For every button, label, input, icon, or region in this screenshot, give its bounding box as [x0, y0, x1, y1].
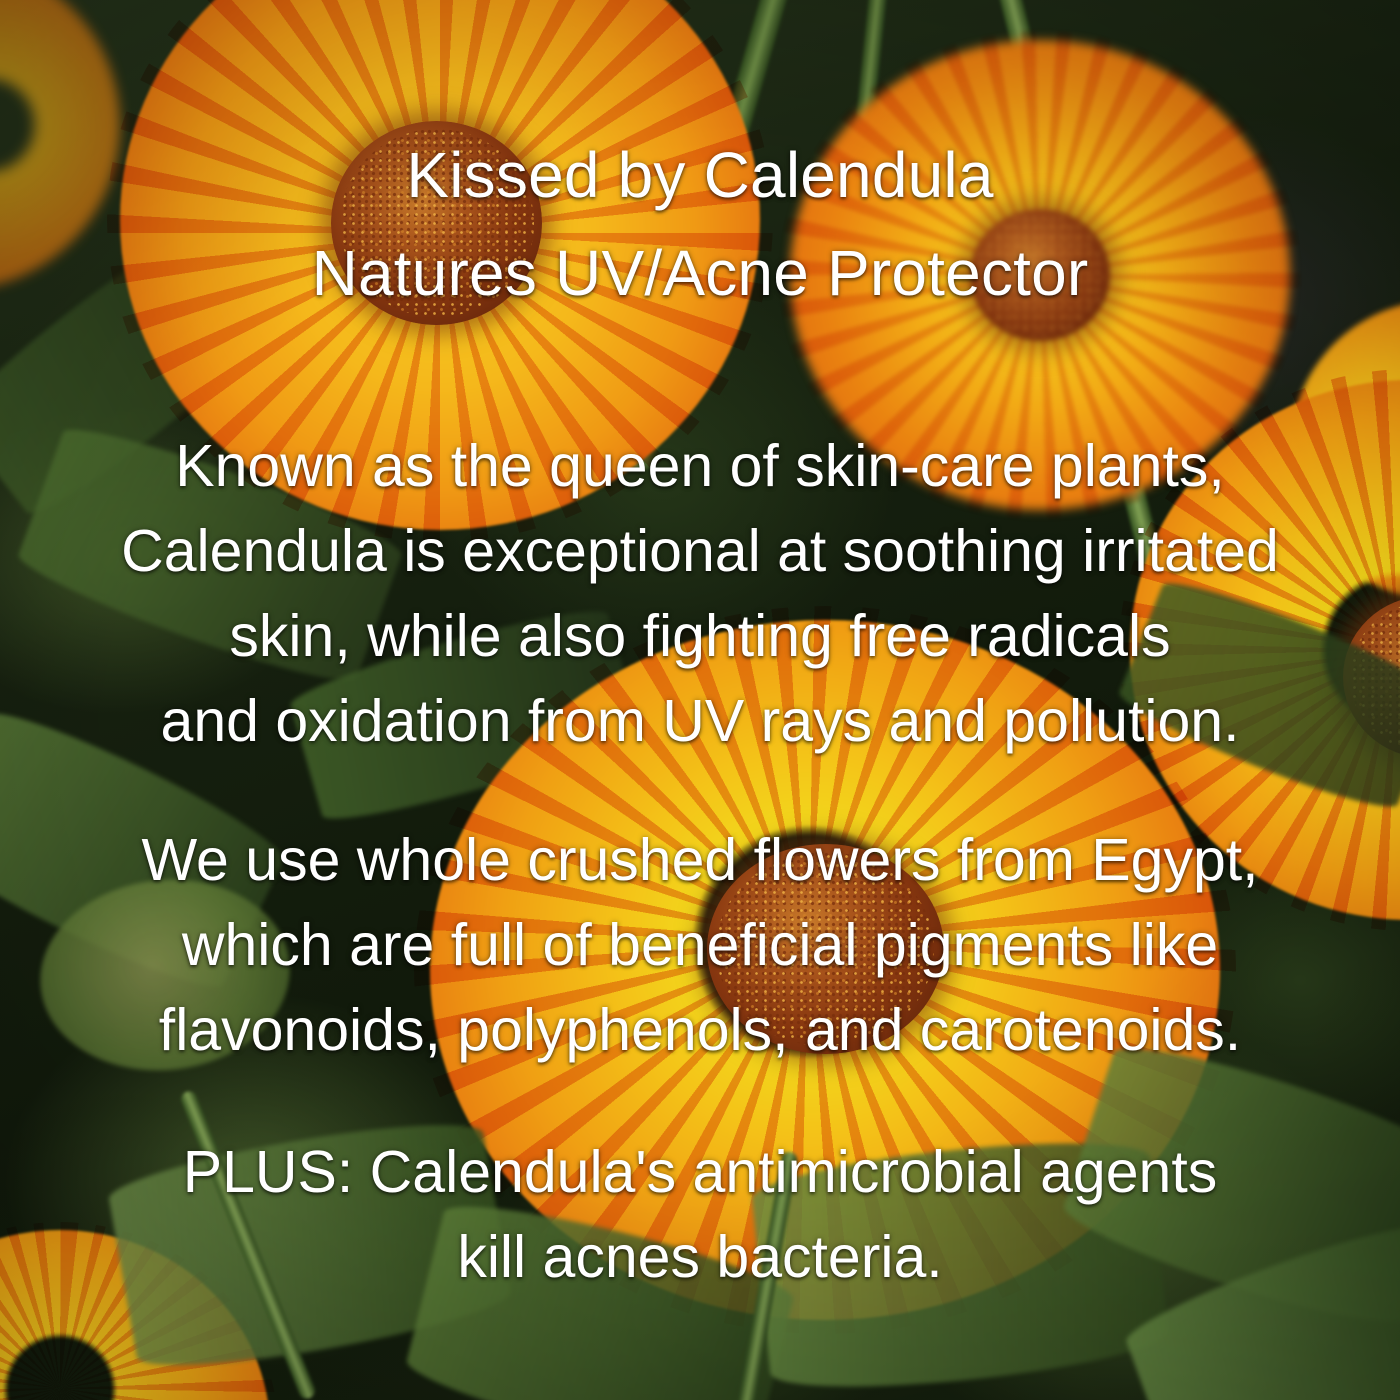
text-overlay: Kissed by Calendula Natures UV/Acne Prot… — [0, 0, 1400, 1400]
benefits-line-1: Known as the queen of skin-care plants, — [0, 424, 1400, 509]
title-line-2: Natures UV/Acne Protector — [0, 224, 1400, 322]
sourcing-line-3: flavonoids, polyphenols, and carotenoids… — [0, 988, 1400, 1073]
plus-line-1: PLUS: Calendula's antimicrobial agents — [0, 1130, 1400, 1215]
poster-canvas: Kissed by Calendula Natures UV/Acne Prot… — [0, 0, 1400, 1400]
title-line-1: Kissed by Calendula — [0, 126, 1400, 224]
benefits-line-4: and oxidation from UV rays and pollution… — [0, 679, 1400, 764]
paragraph-sourcing: We use whole crushed flowers from Egypt,… — [0, 818, 1400, 1073]
sourcing-line-2: which are full of beneficial pigments li… — [0, 903, 1400, 988]
benefits-line-2: Calendula is exceptional at soothing irr… — [0, 509, 1400, 594]
benefits-line-3: skin, while also fighting free radicals — [0, 594, 1400, 679]
sourcing-line-1: We use whole crushed flowers from Egypt, — [0, 818, 1400, 903]
page-title: Kissed by Calendula Natures UV/Acne Prot… — [0, 126, 1400, 322]
plus-line-2: kill acnes bacteria. — [0, 1215, 1400, 1300]
paragraph-plus: PLUS: Calendula's antimicrobial agents k… — [0, 1130, 1400, 1300]
paragraph-benefits: Known as the queen of skin-care plants, … — [0, 424, 1400, 764]
